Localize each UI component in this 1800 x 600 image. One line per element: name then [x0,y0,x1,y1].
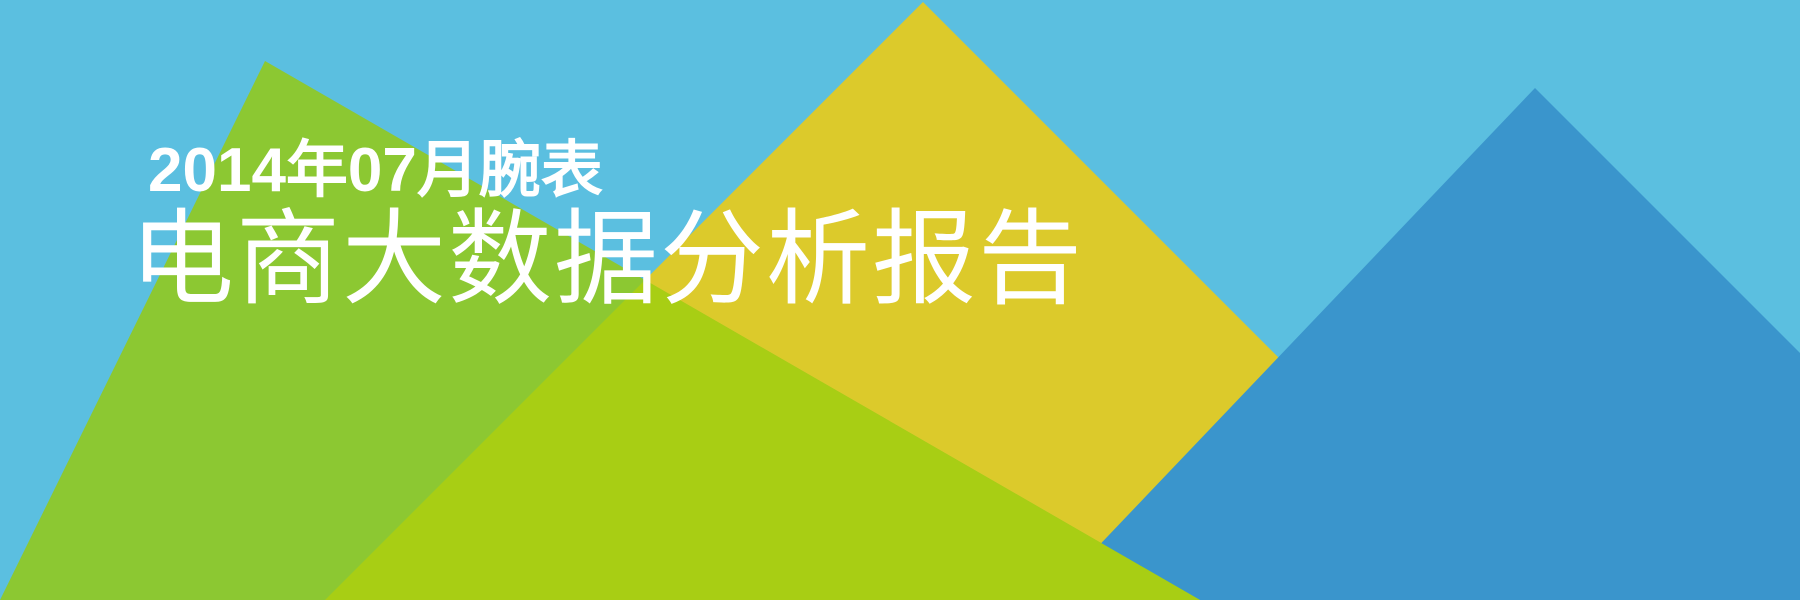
background-graphic [0,0,1800,600]
banner-root: 2014年07月腕表 电商大数据分析报告 [0,0,1800,600]
